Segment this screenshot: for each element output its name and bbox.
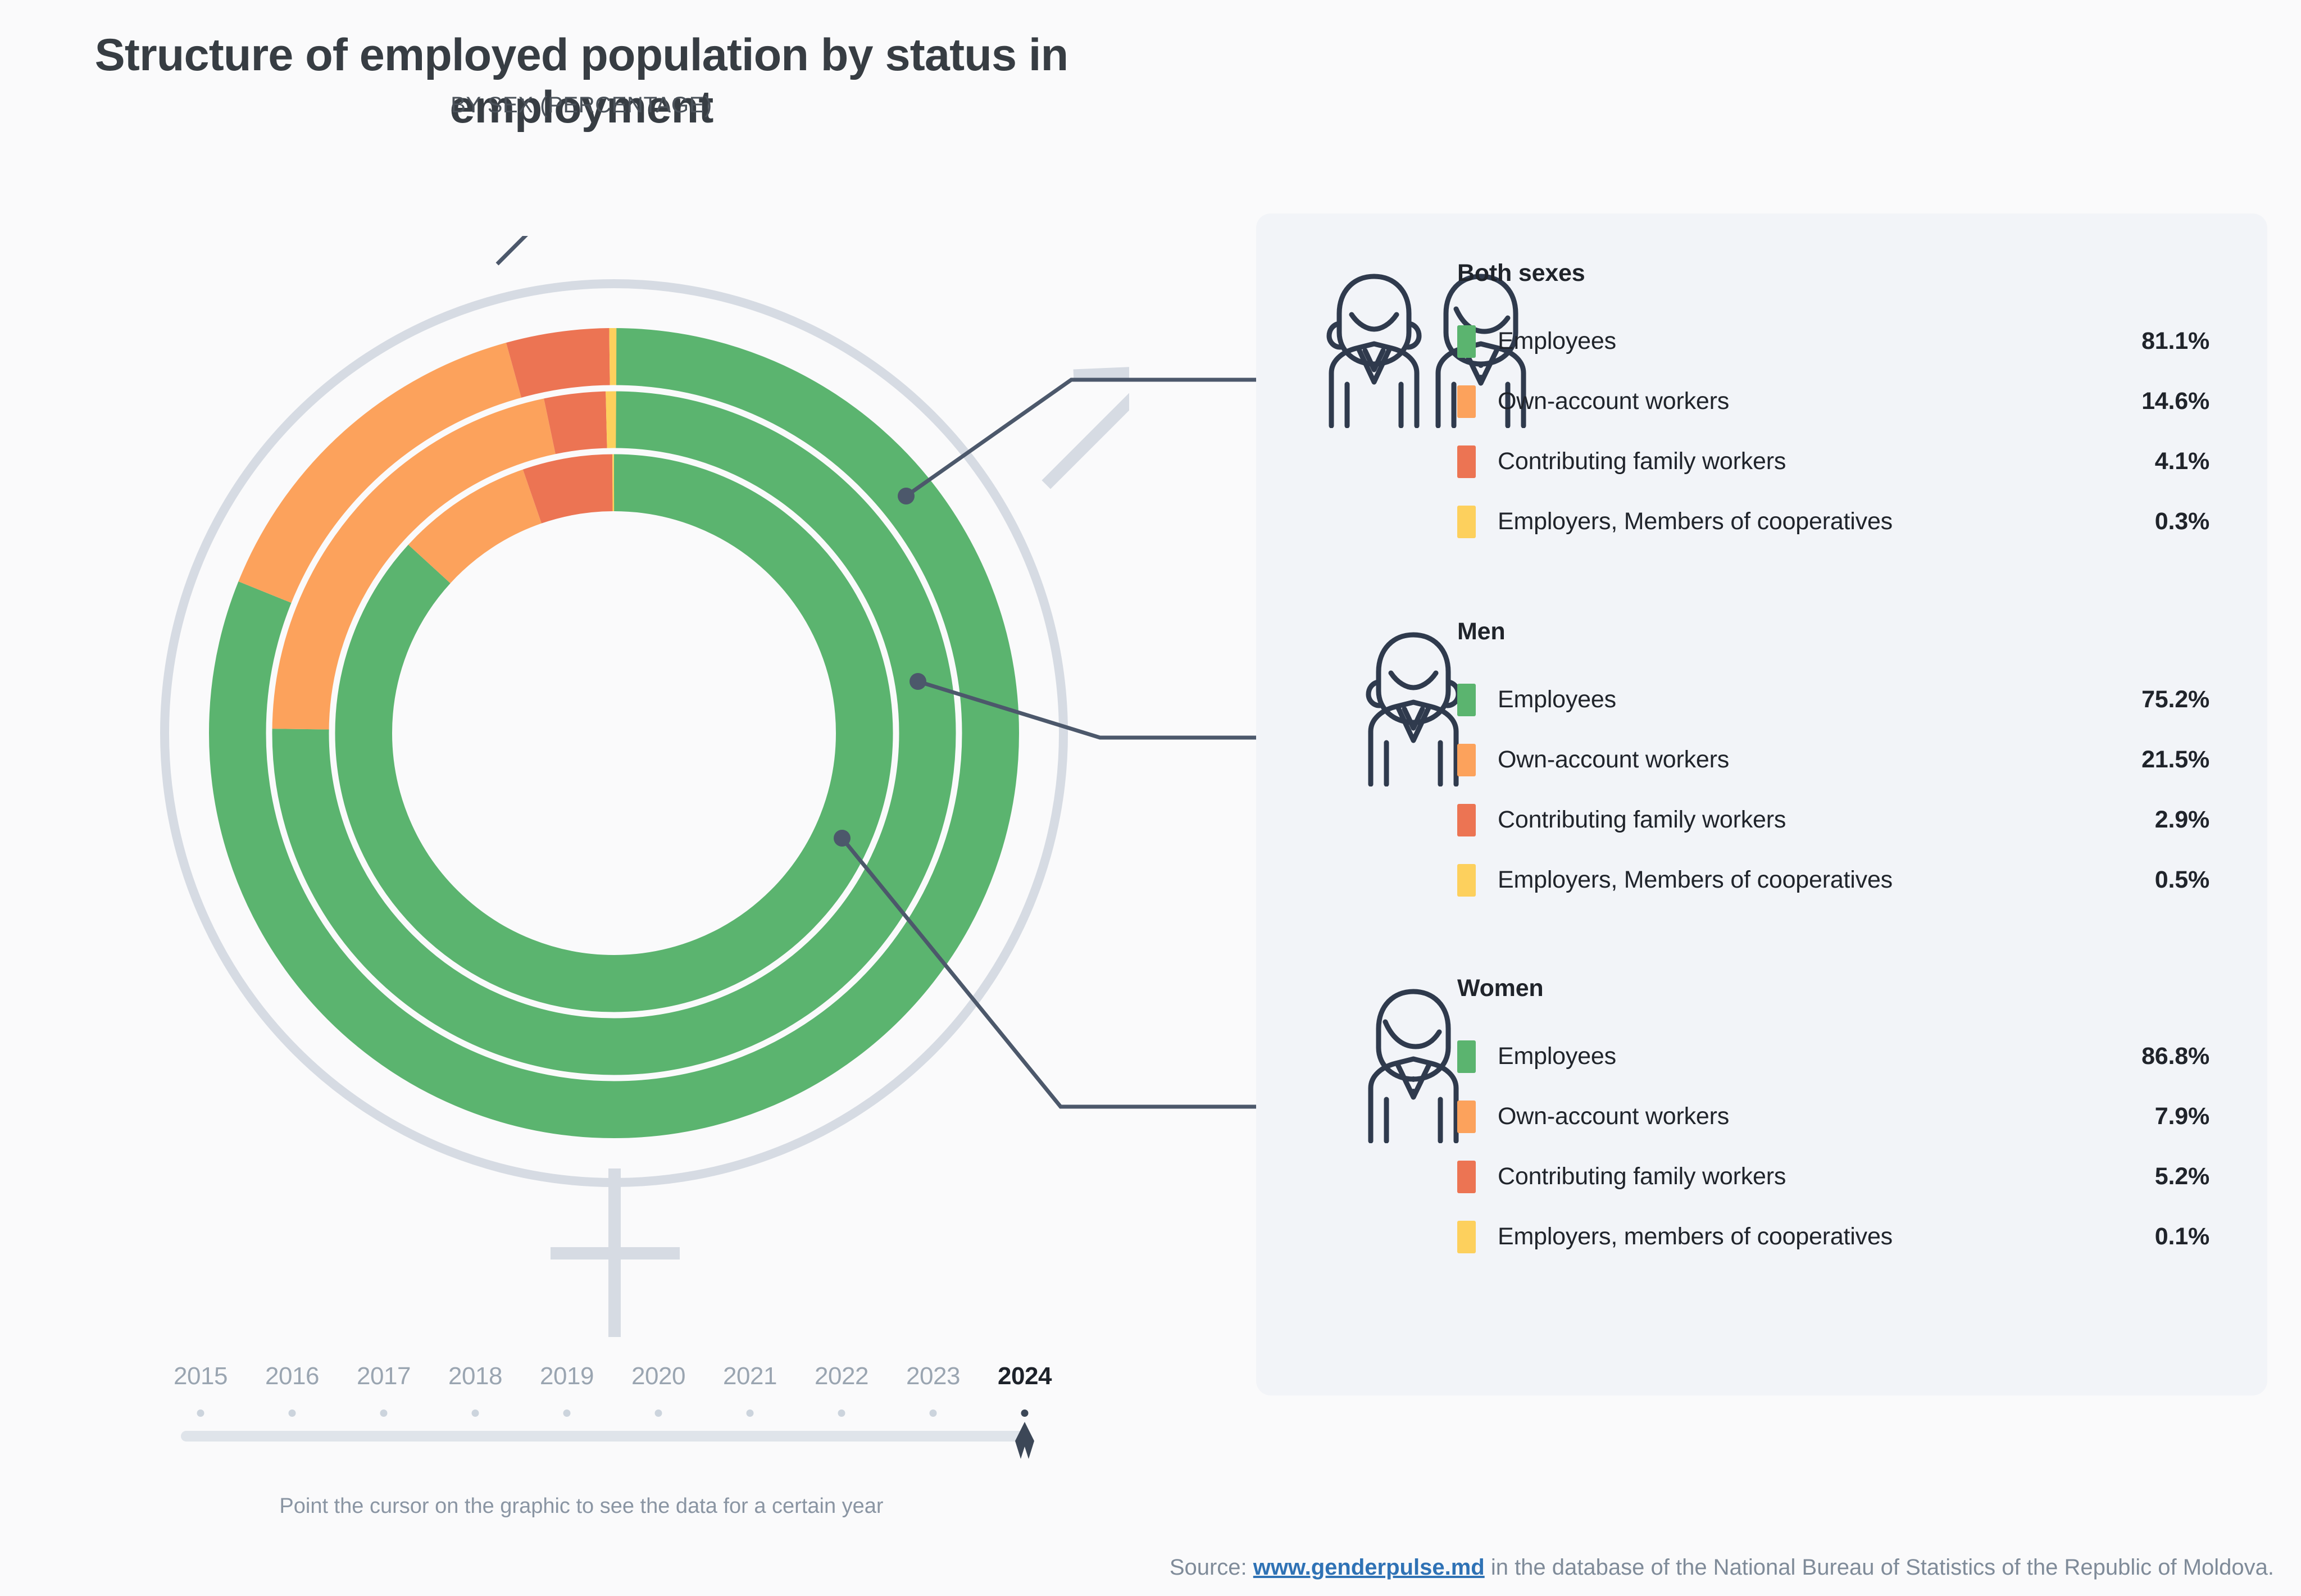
source-link[interactable]: www.genderpulse.md bbox=[1253, 1555, 1485, 1580]
year-dot-2022[interactable] bbox=[838, 1409, 845, 1417]
legend-label: Own-account workers bbox=[1498, 746, 1729, 774]
legend-value: 21.5% bbox=[2141, 746, 2209, 774]
source-line: Source: www.genderpulse.md in the databa… bbox=[1170, 1555, 2274, 1580]
legend-label: Contributing family workers bbox=[1498, 448, 1786, 475]
year-dot-2016[interactable] bbox=[289, 1409, 296, 1417]
year-dot-2015[interactable] bbox=[197, 1409, 204, 1417]
legend-row[interactable]: Own-account workers 14.6% bbox=[1457, 371, 2213, 431]
legend-value: 2.9% bbox=[2155, 806, 2209, 834]
legend-rows-men: Employees 75.2% Own-account workers 21.5… bbox=[1457, 670, 2213, 910]
legend-label: Own-account workers bbox=[1498, 388, 1729, 415]
legend-value: 4.1% bbox=[2155, 448, 2209, 475]
legend-value: 5.2% bbox=[2155, 1163, 2209, 1190]
legend-swatch-employees bbox=[1457, 684, 1476, 716]
legend-label: Employers, Members of cooperatives bbox=[1498, 866, 1893, 894]
legend-label: Employers, Members of cooperatives bbox=[1498, 508, 1893, 535]
year-label-2015[interactable]: 2015 bbox=[174, 1362, 228, 1390]
year-label-2020[interactable]: 2020 bbox=[631, 1362, 685, 1390]
connector-both-sexes bbox=[497, 236, 601, 264]
legend-row[interactable]: Employers, Members of cooperatives 0.3% bbox=[1457, 492, 2213, 552]
donut-rings bbox=[238, 357, 990, 1110]
gender-symbol-horizontal-bar bbox=[551, 1247, 680, 1259]
year-label-2024[interactable]: 2024 bbox=[998, 1362, 1052, 1390]
legend-swatch-employers bbox=[1457, 864, 1476, 897]
year-dot-2023[interactable] bbox=[930, 1409, 937, 1417]
legend-value: 75.2% bbox=[2141, 686, 2209, 713]
legend-row[interactable]: Employers, members of cooperatives 0.1% bbox=[1457, 1207, 2213, 1267]
legend-group-title: Women bbox=[1457, 975, 1544, 1002]
year-dot-row bbox=[181, 1402, 1040, 1424]
legend-value: 14.6% bbox=[2141, 388, 2209, 415]
year-label-2017[interactable]: 2017 bbox=[357, 1362, 411, 1390]
legend-row[interactable]: Employees 86.8% bbox=[1457, 1026, 2213, 1086]
year-dot-2019[interactable] bbox=[563, 1409, 571, 1417]
legend-swatch-employees bbox=[1457, 1040, 1476, 1073]
year-dot-2017[interactable] bbox=[380, 1409, 388, 1417]
year-label-2021[interactable]: 2021 bbox=[723, 1362, 777, 1390]
timeline-track[interactable] bbox=[181, 1431, 1027, 1442]
legend-swatch-contributing-family bbox=[1457, 804, 1476, 836]
legend-swatch-employees bbox=[1457, 325, 1476, 358]
legend-swatch-contributing-family bbox=[1457, 445, 1476, 478]
year-label-2022[interactable]: 2022 bbox=[815, 1362, 868, 1390]
timeline-hint: Point the cursor on the graphic to see t… bbox=[0, 1494, 1163, 1518]
infographic-stage: Structure of employed population by stat… bbox=[0, 0, 2301, 1596]
legend-group-title: Men bbox=[1457, 618, 1505, 645]
legend-rows-women: Employees 86.8% Own-account workers 7.9%… bbox=[1457, 1026, 2213, 1267]
legend-row[interactable]: Employees 75.2% bbox=[1457, 670, 2213, 730]
legend-label: Employees bbox=[1498, 328, 1616, 355]
year-dot-2018[interactable] bbox=[472, 1409, 479, 1417]
year-label-row: 2015 2016 2017 2018 2019 2020 2021 2022 … bbox=[181, 1362, 1040, 1402]
legend-value: 86.8% bbox=[2141, 1043, 2209, 1070]
male-symbol-arrow bbox=[1051, 372, 1129, 480]
legend-label: Contributing family workers bbox=[1498, 1163, 1786, 1190]
legend-swatch-contributing-family bbox=[1457, 1161, 1476, 1193]
legend-swatch-employers bbox=[1457, 1221, 1476, 1253]
legend-swatch-employers bbox=[1457, 506, 1476, 538]
page-title: Structure of employed population by stat… bbox=[0, 29, 1163, 134]
source-suffix: in the database of the National Bureau o… bbox=[1485, 1555, 2274, 1580]
connector-lines bbox=[497, 236, 601, 264]
legend-row[interactable]: Employees 81.1% bbox=[1457, 311, 2213, 371]
legend-row[interactable]: Contributing family workers 2.9% bbox=[1457, 790, 2213, 850]
legend-label: Employees bbox=[1498, 1043, 1616, 1070]
legend-row[interactable]: Own-account workers 21.5% bbox=[1457, 730, 2213, 790]
year-label-2023[interactable]: 2023 bbox=[906, 1362, 960, 1390]
legend-label: Contributing family workers bbox=[1498, 806, 1786, 834]
legend-panel: Both sexes Employees 81.1% Own-account w… bbox=[1256, 213, 2267, 1395]
legend-swatch-own-account bbox=[1457, 1101, 1476, 1133]
year-label-2019[interactable]: 2019 bbox=[540, 1362, 594, 1390]
year-timeline[interactable]: 2015 2016 2017 2018 2019 2020 2021 2022 … bbox=[181, 1362, 1040, 1475]
legend-row[interactable]: Contributing family workers 5.2% bbox=[1457, 1147, 2213, 1207]
legend-value: 0.1% bbox=[2155, 1223, 2209, 1251]
year-label-2018[interactable]: 2018 bbox=[448, 1362, 502, 1390]
legend-value: 0.3% bbox=[2155, 508, 2209, 535]
source-prefix: Source: bbox=[1170, 1555, 1253, 1580]
timeline-thumb[interactable] bbox=[1015, 1422, 1034, 1459]
legend-rows-both-sexes: Employees 81.1% Own-account workers 14.6… bbox=[1457, 311, 2213, 552]
legend-row[interactable]: Own-account workers 7.9% bbox=[1457, 1086, 2213, 1147]
page-subtitle: BY SEX (PERCENTAGE) bbox=[0, 93, 1163, 118]
year-label-2016[interactable]: 2016 bbox=[265, 1362, 319, 1390]
legend-value: 0.5% bbox=[2155, 866, 2209, 894]
legend-label: Employers, members of cooperatives bbox=[1498, 1223, 1893, 1251]
legend-row[interactable]: Employers, Members of cooperatives 0.5% bbox=[1457, 850, 2213, 910]
legend-group-title: Both sexes bbox=[1457, 260, 1585, 287]
legend-value: 81.1% bbox=[2141, 328, 2209, 355]
year-dot-2024[interactable] bbox=[1021, 1409, 1029, 1417]
legend-label: Own-account workers bbox=[1498, 1103, 1729, 1130]
legend-value: 7.9% bbox=[2155, 1103, 2209, 1130]
legend-swatch-own-account bbox=[1457, 385, 1476, 418]
legend-row[interactable]: Contributing family workers 4.1% bbox=[1457, 431, 2213, 492]
donut-chart[interactable] bbox=[101, 236, 1129, 1337]
legend-label: Employees bbox=[1498, 686, 1616, 713]
year-dot-2021[interactable] bbox=[747, 1409, 754, 1417]
year-dot-2020[interactable] bbox=[655, 1409, 662, 1417]
legend-swatch-own-account bbox=[1457, 744, 1476, 776]
